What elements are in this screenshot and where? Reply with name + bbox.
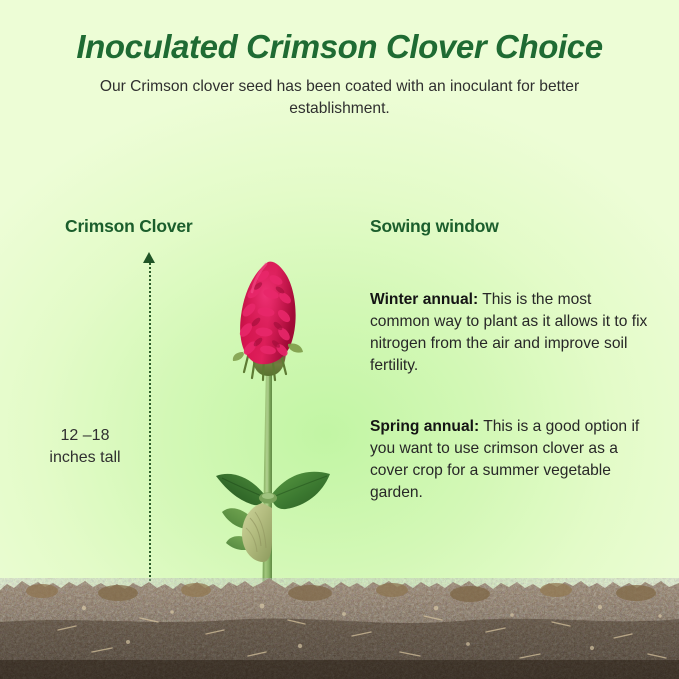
clover-leaves: [216, 472, 330, 562]
soil-bed: [0, 560, 679, 679]
up-arrow-icon: [143, 252, 155, 263]
clover-flower-spike: [233, 262, 303, 380]
infographic-canvas: Inoculated Crimson Clover Choice Our Cri…: [0, 0, 679, 679]
